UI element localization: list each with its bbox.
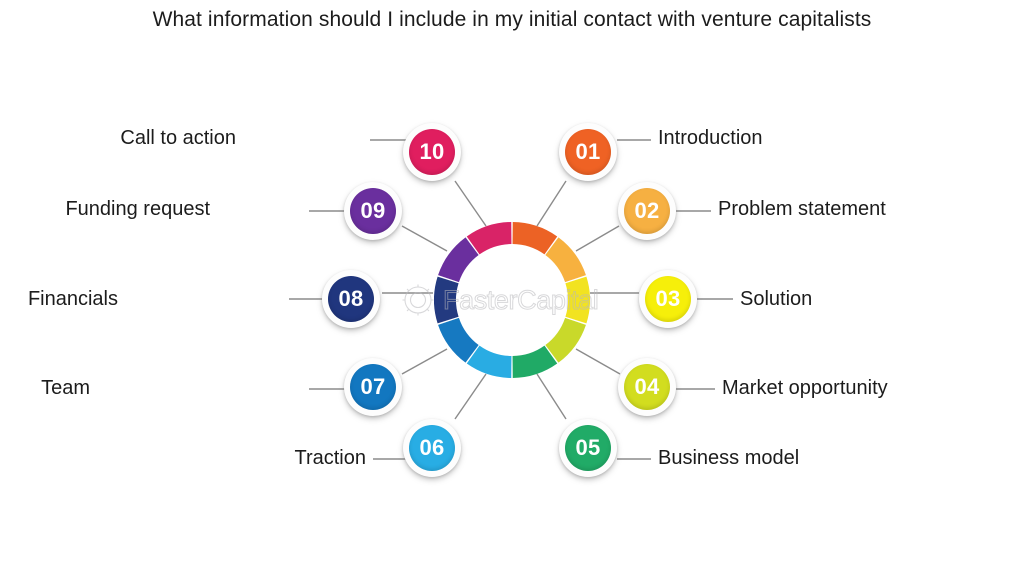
step-badge-06[interactable]: 06 bbox=[403, 419, 461, 477]
spoke-line-10 bbox=[455, 181, 486, 226]
step-badge-01[interactable]: 01 bbox=[559, 123, 617, 181]
gear-icon bbox=[398, 281, 438, 319]
step-number-08: 08 bbox=[328, 276, 374, 322]
circular-process-diagram: FasterCapital 01020304050607080910 Intro… bbox=[0, 0, 1024, 583]
step-label-04: Market opportunity bbox=[722, 378, 888, 398]
spoke-line-01 bbox=[537, 181, 566, 226]
step-label-07: Team bbox=[41, 378, 90, 398]
step-label-05: Business model bbox=[658, 448, 799, 468]
step-number-06: 06 bbox=[409, 425, 455, 471]
step-badge-10[interactable]: 10 bbox=[403, 123, 461, 181]
step-number-04: 04 bbox=[624, 364, 670, 410]
fastercapital-watermark: FasterCapital bbox=[398, 279, 630, 321]
step-number-02: 02 bbox=[624, 188, 670, 234]
spoke-line-05 bbox=[537, 374, 566, 419]
step-label-02: Problem statement bbox=[718, 199, 886, 219]
step-label-10: Call to action bbox=[120, 128, 236, 148]
step-label-01: Introduction bbox=[658, 128, 763, 148]
step-label-08: Financials bbox=[28, 289, 118, 309]
step-number-03: 03 bbox=[645, 276, 691, 322]
step-badge-04[interactable]: 04 bbox=[618, 358, 676, 416]
step-badge-09[interactable]: 09 bbox=[344, 182, 402, 240]
step-badge-05[interactable]: 05 bbox=[559, 419, 617, 477]
watermark-text: FasterCapital bbox=[443, 285, 598, 316]
spoke-line-06 bbox=[455, 374, 486, 419]
step-number-07: 07 bbox=[350, 364, 396, 410]
step-badge-03[interactable]: 03 bbox=[639, 270, 697, 328]
step-label-09: Funding request bbox=[65, 199, 210, 219]
step-badge-07[interactable]: 07 bbox=[344, 358, 402, 416]
step-label-03: Solution bbox=[740, 289, 812, 309]
step-badge-08[interactable]: 08 bbox=[322, 270, 380, 328]
step-label-06: Traction bbox=[294, 448, 366, 468]
step-badge-02[interactable]: 02 bbox=[618, 182, 676, 240]
step-number-01: 01 bbox=[565, 129, 611, 175]
step-number-10: 10 bbox=[409, 129, 455, 175]
step-number-09: 09 bbox=[350, 188, 396, 234]
step-number-05: 05 bbox=[565, 425, 611, 471]
